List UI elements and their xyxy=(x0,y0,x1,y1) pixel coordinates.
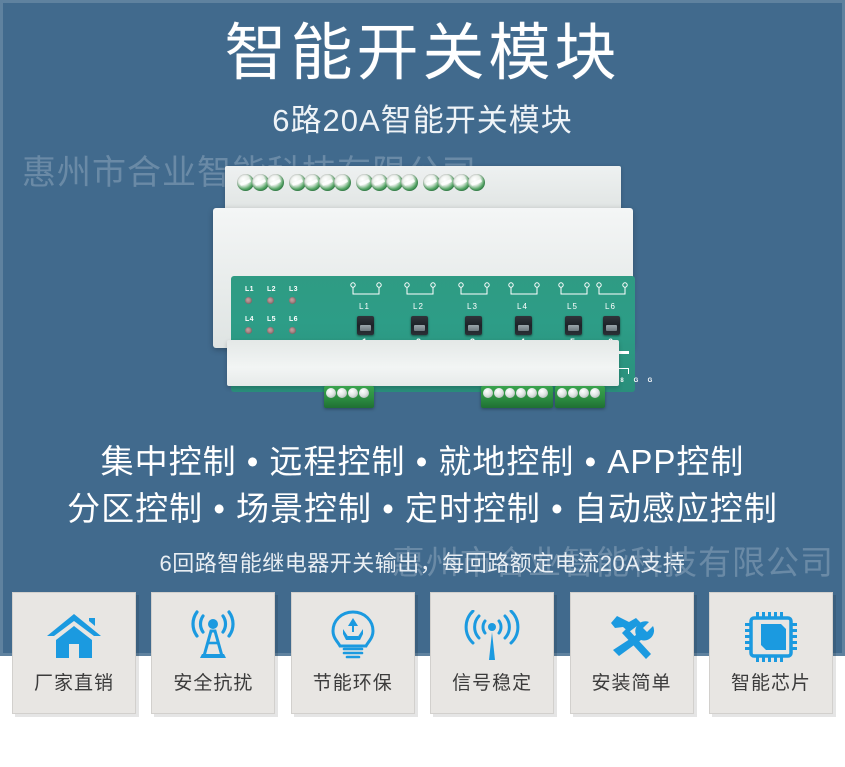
badge-smart-chip[interactable]: 智能芯片 xyxy=(709,592,833,714)
relay-label-l1: L1 xyxy=(359,302,370,311)
signal-waves-icon xyxy=(461,605,523,667)
screw-group-4 xyxy=(423,174,483,191)
screw-terminal xyxy=(401,174,418,191)
badge-label: 安全抗扰 xyxy=(173,671,253,697)
hammer-wrench-icon xyxy=(601,605,663,667)
antenna-tower-icon xyxy=(182,605,244,667)
badge-label: 智能芯片 xyxy=(731,671,811,697)
di-terminal: G xyxy=(629,378,643,384)
plug-pin xyxy=(590,388,600,398)
house-icon xyxy=(43,605,105,667)
hero-panel: 智能开关模块 6路20A智能开关模块 惠州市合业智能科技有限公司 惠州市合业智能… xyxy=(0,0,845,656)
screw-terminal xyxy=(468,174,485,191)
screw-group-3 xyxy=(356,174,416,191)
led-label-l6: L6 xyxy=(289,316,298,323)
channel-button-6[interactable] xyxy=(603,316,620,335)
product-banner: 智能开关模块 6路20A智能开关模块 惠州市合业智能科技有限公司 惠州市合业智能… xyxy=(0,0,845,767)
badge-label: 厂家直销 xyxy=(34,671,114,697)
plug-pin xyxy=(348,388,358,398)
led-indicator-l6 xyxy=(289,327,296,334)
plug-pin xyxy=(326,388,336,398)
badge-factory-direct[interactable]: 厂家直销 xyxy=(12,592,136,714)
badge-easy-install[interactable]: 安装简单 xyxy=(570,592,694,714)
relay-symbol-icon xyxy=(557,282,591,304)
relay-symbol-icon xyxy=(595,282,629,304)
relay-label-l6: L6 xyxy=(605,302,616,311)
badge-label: 节能环保 xyxy=(313,671,393,697)
relay-label-l4: L4 xyxy=(517,302,528,311)
relay-label-l3: L3 xyxy=(467,302,478,311)
feature-badge-row: 厂家直销 安全抗扰 xyxy=(12,592,833,714)
plug-pin xyxy=(516,388,526,398)
channel-button-1[interactable] xyxy=(357,316,374,335)
top-screw-terminals xyxy=(237,174,490,191)
chip-icon xyxy=(740,605,802,667)
badge-label: 信号稳定 xyxy=(452,671,532,697)
plug-pin xyxy=(359,388,369,398)
badge-label: 安装简单 xyxy=(592,671,672,697)
led-label-l1: L1 xyxy=(245,286,254,293)
di-plug-connector-a xyxy=(481,386,553,408)
feature-line-1: 集中控制 • 远程控制 • 就地控制 • APP控制 xyxy=(0,440,845,484)
plug-pin xyxy=(505,388,515,398)
plug-pin xyxy=(538,388,548,398)
badge-stable-signal[interactable]: 信号稳定 xyxy=(430,592,554,714)
page-title: 智能开关模块 xyxy=(0,18,845,90)
led-indicator-l3 xyxy=(289,297,296,304)
plug-pin xyxy=(483,388,493,398)
recycle-bulb-icon xyxy=(322,605,384,667)
relay-symbol-icon xyxy=(349,282,383,304)
led-label-l4: L4 xyxy=(245,316,254,323)
power-plug-connector xyxy=(324,386,374,408)
relay-symbol-icon xyxy=(457,282,491,304)
channel-button-3[interactable] xyxy=(465,316,482,335)
relay-label-l2: L2 xyxy=(413,302,424,311)
di-plug-connector-b xyxy=(555,386,605,408)
di-terminal: G xyxy=(643,378,657,384)
led-label-l3: L3 xyxy=(289,286,298,293)
led-indicator-l4 xyxy=(245,327,252,334)
led-indicator-l5 xyxy=(267,327,274,334)
channel-button-5[interactable] xyxy=(565,316,582,335)
screw-group-2 xyxy=(289,174,349,191)
device-body: L1 L2 L3 L4 L5 L6 xyxy=(213,208,633,348)
page-subtitle: 6路20A智能开关模块 xyxy=(0,100,845,142)
led-indicator-l1 xyxy=(245,297,252,304)
plug-pin xyxy=(337,388,347,398)
plug-pin xyxy=(527,388,537,398)
plug-pin xyxy=(568,388,578,398)
screw-group-1 xyxy=(237,174,282,191)
badge-energy-saving[interactable]: 节能环保 xyxy=(291,592,415,714)
plug-pin xyxy=(579,388,589,398)
product-device-image: L1 L2 L3 L4 L5 L6 xyxy=(203,158,643,420)
screw-terminal xyxy=(334,174,351,191)
relay-label-l5: L5 xyxy=(567,302,578,311)
plug-pin xyxy=(557,388,567,398)
relay-symbol-icon xyxy=(403,282,437,304)
led-label-l2: L2 xyxy=(267,286,276,293)
device-bottom-shell xyxy=(227,340,619,386)
plug-pin xyxy=(494,388,504,398)
relay-symbol-icon xyxy=(507,282,541,304)
screw-terminal xyxy=(267,174,284,191)
channel-button-2[interactable] xyxy=(411,316,428,335)
badge-anti-interference[interactable]: 安全抗扰 xyxy=(151,592,275,714)
channel-button-4[interactable] xyxy=(515,316,532,335)
led-label-l5: L5 xyxy=(267,316,276,323)
feature-line-3: 6回路智能继电器开关输出，每回路额定电流20A支持 xyxy=(0,548,845,580)
feature-line-2: 分区控制 • 场景控制 • 定时控制 • 自动感应控制 xyxy=(0,487,845,531)
led-indicator-l2 xyxy=(267,297,274,304)
